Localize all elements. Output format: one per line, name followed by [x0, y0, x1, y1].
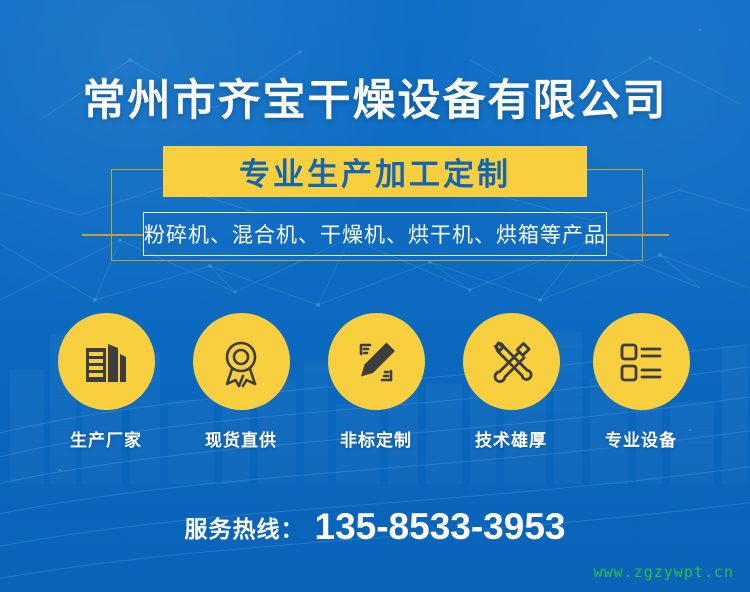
- page-title: 常州市齐宝干燥设备有限公司: [0, 66, 750, 128]
- hotline-number: 135-8533-3953: [315, 506, 566, 547]
- promo-banner: 常州市齐宝干燥设备有限公司 专业生产加工定制 粉碎机、混合机、干燥机、烘干机、烘…: [0, 0, 750, 592]
- feature-label: 现货直供: [171, 426, 311, 451]
- headline-text: 专业生产加工定制: [239, 149, 511, 194]
- feature-label: 生产厂家: [36, 426, 176, 451]
- award-ribbon-icon: [215, 336, 267, 388]
- feature-icon-circle: [58, 313, 155, 410]
- pencil-ruler-icon: [350, 336, 402, 388]
- feature-item-stock-supply[interactable]: 现货直供: [171, 313, 311, 451]
- feature-list: 生产厂家 现货直供: [0, 313, 750, 463]
- frame-connector-right: [607, 234, 669, 236]
- subtitle-text: 粉碎机、混合机、干燥机、烘干机、烘箱等产品: [144, 219, 606, 249]
- feature-icon-circle: [593, 313, 690, 410]
- feature-label: 非标定制: [306, 426, 446, 451]
- headline-band: 专业生产加工定制: [163, 146, 587, 197]
- feature-icon-circle: [193, 313, 290, 410]
- wrench-hammer-icon: [485, 336, 537, 388]
- feature-item-custom-made[interactable]: 非标定制: [306, 313, 446, 451]
- feature-item-professional-equipment[interactable]: 专业设备: [571, 313, 711, 451]
- hotline: 服务热线：135-8533-3953: [0, 506, 750, 548]
- frame-connector-left: [82, 234, 144, 236]
- feature-icon-circle: [328, 313, 425, 410]
- checklist-icon: [615, 336, 667, 388]
- feature-label: 技术雄厚: [441, 426, 581, 451]
- feature-item-manufacturer[interactable]: 生产厂家: [36, 313, 176, 451]
- feature-item-strong-technology[interactable]: 技术雄厚: [441, 313, 581, 451]
- watermark-url: www.zgzywpt.cn: [594, 563, 734, 581]
- feature-label: 专业设备: [571, 426, 711, 451]
- factory-building-icon: [80, 336, 132, 388]
- feature-icon-circle: [463, 313, 560, 410]
- subtitle-box: 粉碎机、混合机、干燥机、烘干机、烘箱等产品: [143, 212, 607, 256]
- hotline-label: 服务热线：: [185, 516, 305, 542]
